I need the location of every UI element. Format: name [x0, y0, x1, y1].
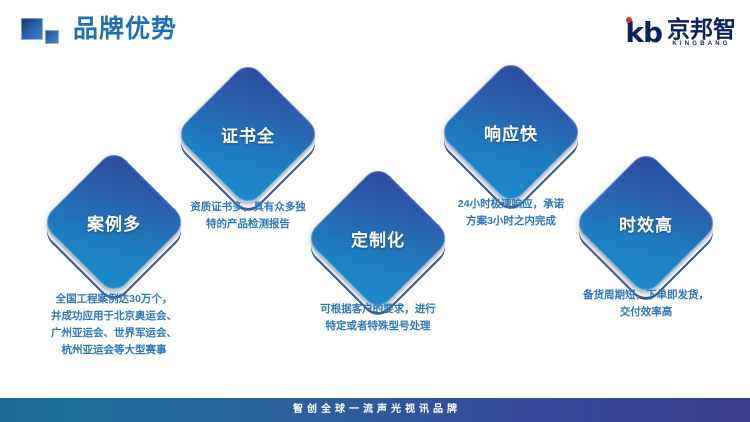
diamond-face-4 — [437, 58, 584, 205]
footer-bar: 智创全球一流声光视讯品牌 — [0, 398, 750, 422]
diamond-face-2 — [174, 60, 321, 207]
diamond-face-3 — [304, 164, 451, 311]
advantage-description-3: 可根据客户的要求，进行 特定或者特殊型号处理 — [274, 301, 482, 335]
advantage-description-1: 全国工程案例达30万个， 并成功应用于北京奥运会、 广州亚运会、世界军运会、 杭… — [10, 291, 218, 359]
diamond-shape-5[interactable]: 时效高 — [594, 171, 698, 275]
advantage-description-5: 备货周期短，下单即发货， 交付效率高 — [542, 287, 750, 321]
diamond-shape-2[interactable]: 证书全 — [196, 82, 300, 186]
advantages-diagram: 案例多 全国工程案例达30万个， 并成功应用于北京奥运会、 广州亚运会、世界军运… — [0, 0, 750, 398]
footer-slogan: 智创全球一流声光视讯品牌 — [289, 398, 461, 422]
diamond-face-5 — [572, 149, 719, 296]
diamond-shape-4[interactable]: 响应快 — [459, 80, 563, 184]
